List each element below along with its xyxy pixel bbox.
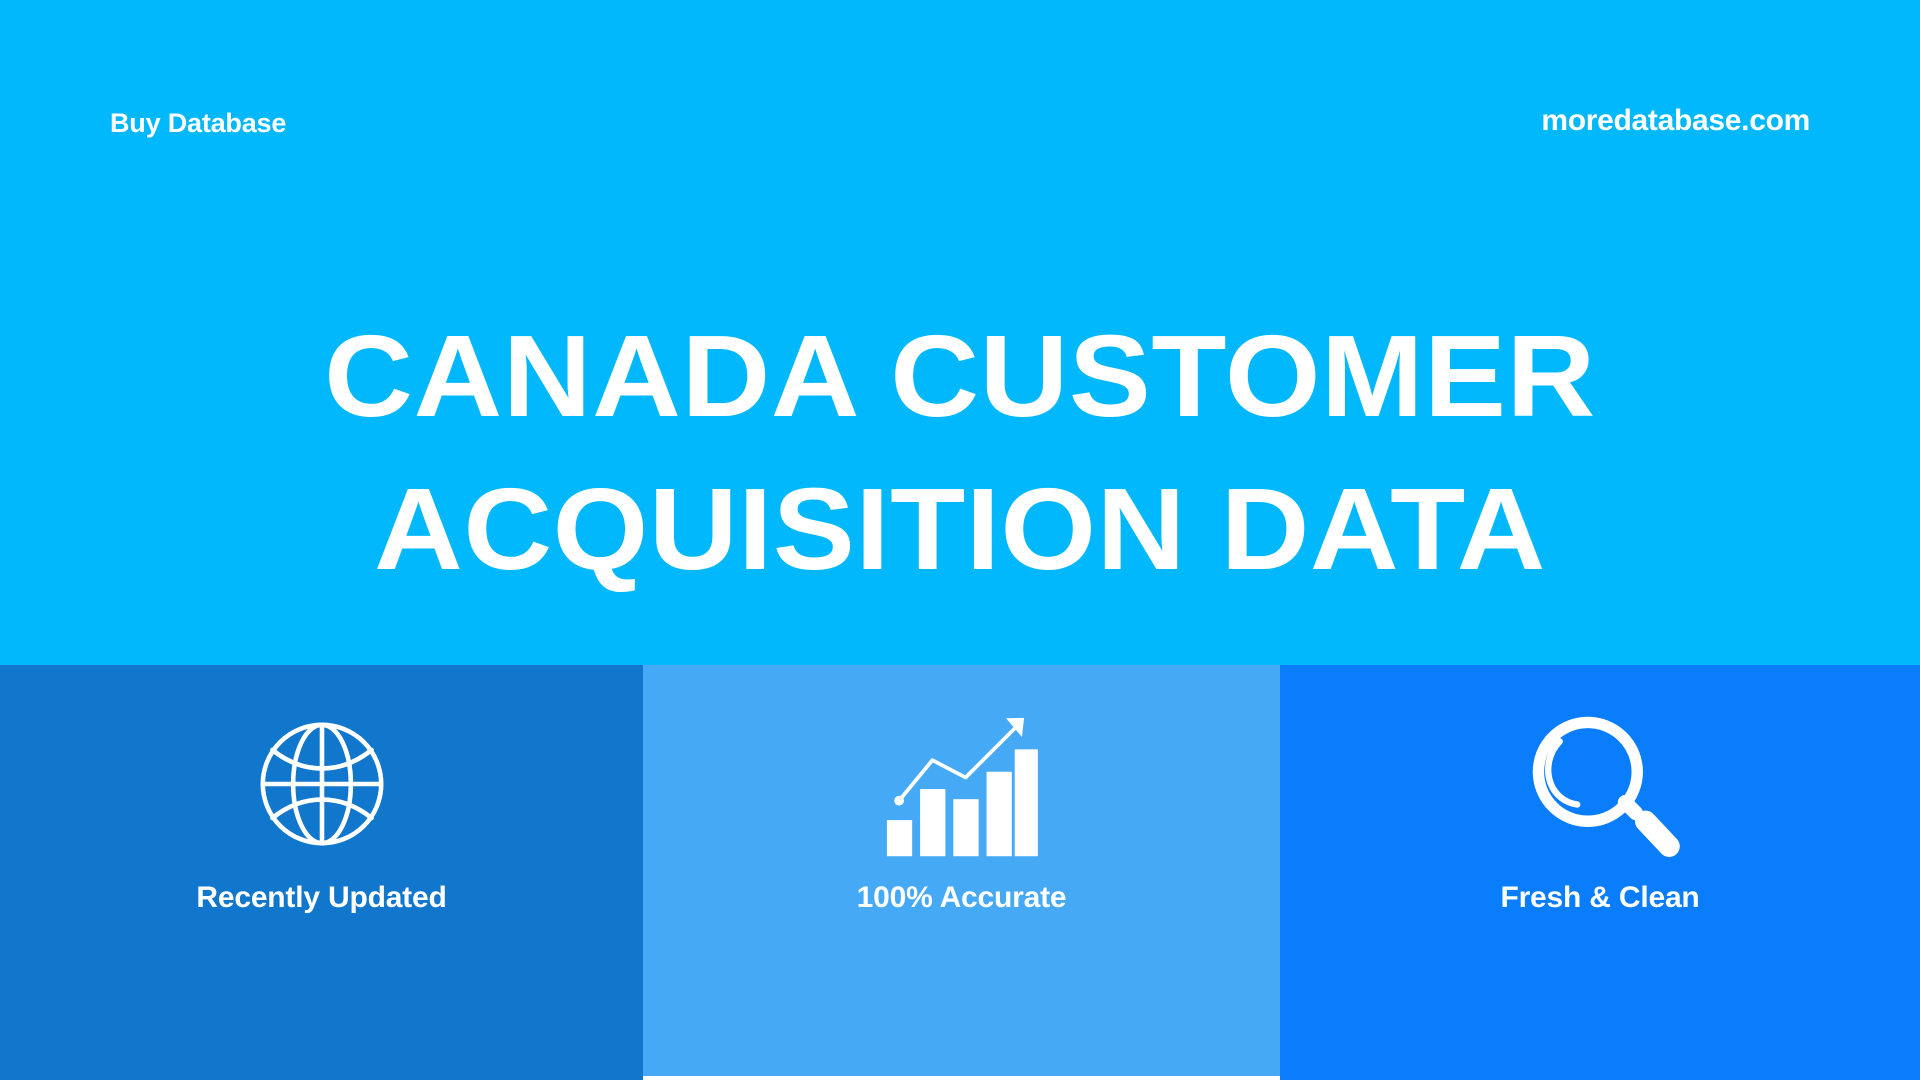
feature-panel-accurate[interactable]: 100% Accurate	[643, 665, 1280, 1076]
feature-label-recently-updated: Recently Updated	[196, 881, 446, 915]
feature-panel-fresh-clean[interactable]: Fresh & Clean	[1280, 665, 1920, 1080]
website-label[interactable]: moredatabase.com	[1541, 104, 1810, 138]
promo-banner: Buy Database moredatabase.com CANADA CUS…	[0, 0, 1920, 1080]
page-title: CANADA CUSTOMER ACQUISITION DATA	[0, 300, 1920, 606]
feature-panel-recently-updated[interactable]: Recently Updated	[0, 665, 643, 1080]
feature-panels: Recently Updated 100% Accu	[0, 665, 1920, 1080]
bar-chart-growth-icon	[884, 709, 1040, 859]
magnifying-glass-icon	[1520, 709, 1680, 859]
globe-icon	[248, 709, 396, 859]
hero-section: Buy Database moredatabase.com CANADA CUS…	[0, 0, 1920, 665]
page-title-line-2: ACQUISITION DATA	[0, 453, 1920, 606]
feature-label-fresh-clean: Fresh & Clean	[1500, 881, 1699, 915]
feature-label-accurate: 100% Accurate	[857, 881, 1067, 915]
brand-label: Buy Database	[110, 108, 286, 139]
page-title-line-1: CANADA CUSTOMER	[0, 300, 1920, 453]
